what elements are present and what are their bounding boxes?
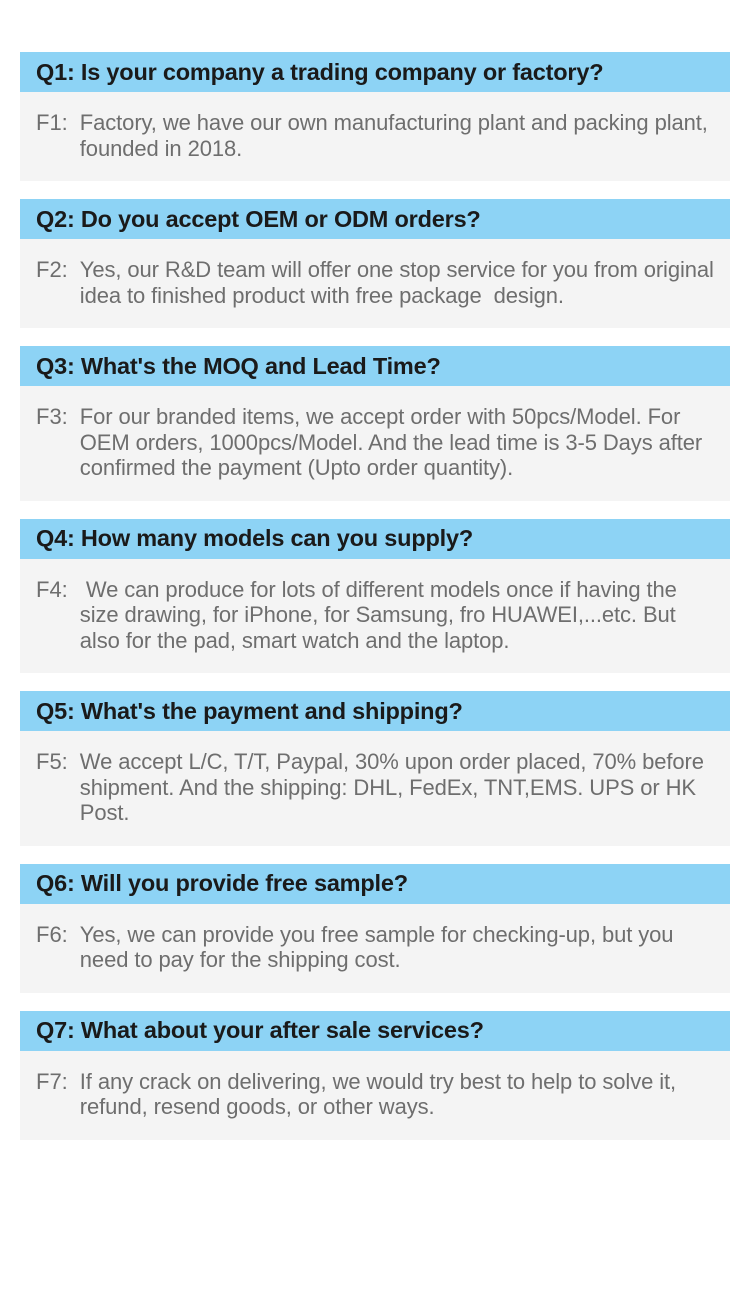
faq-question-bar: Q2: Do you accept OEM or ODM orders? (20, 199, 730, 239)
faq-question-bar: Q7: What about your after sale services? (20, 1011, 730, 1051)
faq-answer-text: Yes, our R&D team will offer one stop se… (80, 257, 720, 308)
faq-question-text: Q3: What's the MOQ and Lead Time? (36, 353, 441, 380)
faq-answer-label: F4: (36, 577, 80, 603)
faq-answer-label: F7: (36, 1069, 80, 1095)
faq-item: Q3: What's the MOQ and Lead Time? F3: Fo… (20, 346, 730, 501)
faq-question-text: Q7: What about your after sale services? (36, 1017, 484, 1044)
faq-answer-text: If any crack on delivering, we would try… (80, 1069, 720, 1120)
faq-question-bar: Q1: Is your company a trading company or… (20, 52, 730, 92)
faq-answer-label: F6: (36, 922, 80, 948)
faq-list: Q1: Is your company a trading company or… (0, 0, 750, 1140)
faq-item: Q5: What's the payment and shipping? F5:… (20, 691, 730, 846)
faq-question-text: Q1: Is your company a trading company or… (36, 59, 603, 86)
faq-answer-panel: F6: Yes, we can provide you free sample … (20, 904, 730, 993)
faq-question-bar: Q4: How many models can you supply? (20, 519, 730, 559)
faq-question-text: Q4: How many models can you supply? (36, 525, 473, 552)
faq-answer-text: We accept L/C, T/T, Paypal, 30% upon ord… (80, 749, 720, 826)
faq-answer-panel: F4: We can produce for lots of different… (20, 559, 730, 674)
faq-answer-panel: F3: For our branded items, we accept ord… (20, 386, 730, 501)
faq-answer-label: F2: (36, 257, 80, 283)
faq-question-bar: Q5: What's the payment and shipping? (20, 691, 730, 731)
faq-answer-panel: F5: We accept L/C, T/T, Paypal, 30% upon… (20, 731, 730, 846)
faq-answer-panel: F2: Yes, our R&D team will offer one sto… (20, 239, 730, 328)
faq-question-text: Q2: Do you accept OEM or ODM orders? (36, 206, 481, 233)
faq-answer-label: F3: (36, 404, 80, 430)
faq-answer-text: Factory, we have our own manufacturing p… (80, 110, 720, 161)
faq-item: Q2: Do you accept OEM or ODM orders? F2:… (20, 199, 730, 328)
faq-answer-label: F1: (36, 110, 80, 136)
faq-answer-panel: F7: If any crack on delivering, we would… (20, 1051, 730, 1140)
faq-item: Q1: Is your company a trading company or… (20, 52, 730, 181)
faq-answer-text: We can produce for lots of different mod… (80, 577, 720, 654)
faq-question-bar: Q6: Will you provide free sample? (20, 864, 730, 904)
faq-question-text: Q6: Will you provide free sample? (36, 870, 408, 897)
faq-answer-panel: F1: Factory, we have our own manufacturi… (20, 92, 730, 181)
faq-answer-label: F5: (36, 749, 80, 775)
faq-answer-text: For our branded items, we accept order w… (80, 404, 720, 481)
faq-item: Q7: What about your after sale services?… (20, 1011, 730, 1140)
faq-question-bar: Q3: What's the MOQ and Lead Time? (20, 346, 730, 386)
faq-question-text: Q5: What's the payment and shipping? (36, 698, 463, 725)
faq-answer-text: Yes, we can provide you free sample for … (80, 922, 720, 973)
faq-item: Q4: How many models can you supply? F4: … (20, 519, 730, 674)
faq-item: Q6: Will you provide free sample? F6: Ye… (20, 864, 730, 993)
